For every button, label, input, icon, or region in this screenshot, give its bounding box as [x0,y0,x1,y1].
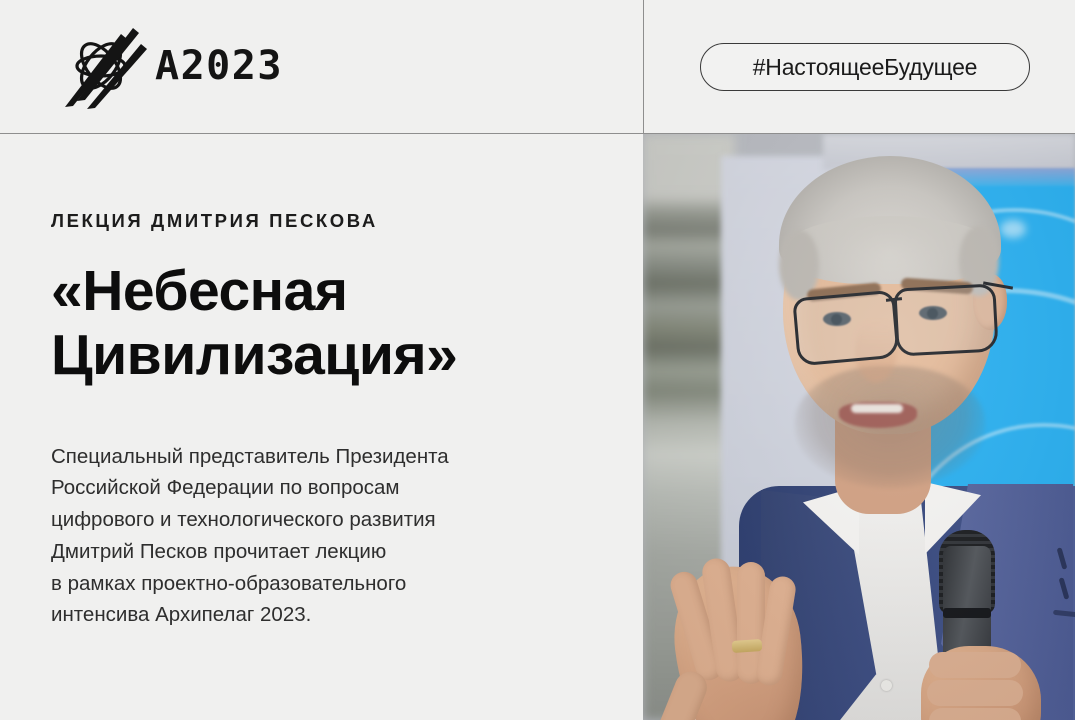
description-line: Дмитрий Песков прочитает лекцию [51,536,597,568]
hashtag-label: #НастоящееБудущее [753,54,978,81]
header-vertical-divider [643,0,644,134]
hashtag-pill[interactable]: #НастоящееБудущее [700,43,1030,91]
poster-header: A2023 #НастоящееБудущее [0,0,1075,134]
description-line: в рамках проектно-образовательного [51,568,597,600]
brand-lockup[interactable]: A2023 [55,22,283,110]
photo-canvas [643,134,1075,720]
content-column: ЛЕКЦИЯ ДМИТРИЯ ПЕСКОВА «Небесная Цивилиз… [0,134,643,720]
finger-knuckle [929,652,1021,678]
shirt-button [881,680,892,691]
description-line: интенсива Архипелаг 2023. [51,599,597,631]
lens-left [792,290,900,367]
poster-root: A2023 #НастоящееБудущее ЛЕКЦИЯ ДМИТРИЯ П… [0,0,1075,720]
description-line: Российской Федерации по вопросам [51,472,597,504]
microphone-band [943,608,991,618]
wedding-ring [732,639,763,653]
atom-orbit-streaks-logo-icon [55,22,147,110]
finger-knuckle [929,708,1021,720]
speaker-photo [643,134,1075,720]
header-horizontal-divider [0,133,1075,134]
brand-wordmark: A2023 [155,46,283,86]
kicker-text: ЛЕКЦИЯ ДМИТРИЯ ПЕСКОВА [51,210,597,232]
page-title: «Небесная Цивилизация» [51,260,597,388]
headline-line-2: Цивилизация» [51,324,597,388]
mouth [839,402,917,428]
finger-knuckle [927,680,1023,706]
description-line: Специальный представитель Президента [51,441,597,473]
speaker-figure [643,134,1075,720]
description-text: Специальный представитель Президента Рос… [51,441,597,632]
lens-right [893,283,998,356]
description-line: цифрового и технологического развития [51,504,597,536]
headline-line-1: «Небесная [51,260,597,324]
